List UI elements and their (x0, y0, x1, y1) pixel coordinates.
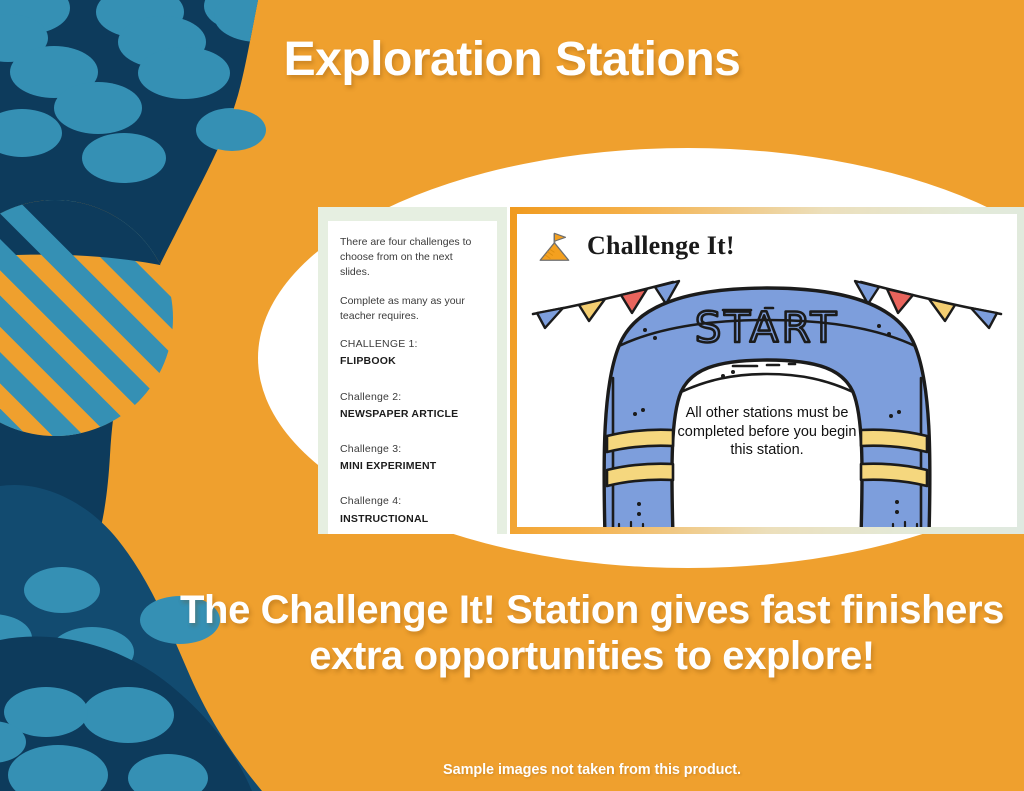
challenge-it-title: Challenge It! (587, 231, 735, 261)
headline-text: The Challenge It! Station gives fast fin… (152, 588, 1024, 679)
disclaimer-text: Sample images not taken from this produc… (152, 762, 1024, 778)
sample-slides: There are four challenges to choose from… (318, 207, 1024, 534)
challenge-2-name: NEWSPAPER ARTICLE (340, 407, 485, 422)
challenge-1-name: FLIPBOOK (340, 354, 485, 369)
arch-message-text: All other stations must be completed bef… (675, 404, 859, 460)
instructions-paragraph-1: There are four challenges to choose from… (340, 235, 485, 281)
challenge-4-label: Challenge 4: (340, 494, 485, 509)
mountain-flag-icon (537, 227, 575, 265)
challenge-2-label: Challenge 2: (340, 390, 485, 405)
slide-thumbnail-instructions: There are four challenges to choose from… (318, 207, 507, 534)
instructions-paragraph-2: Complete as many as your teacher require… (340, 294, 485, 324)
challenge-1-label: CHALLENGE 1: (340, 337, 485, 352)
slide-canvas: There are four challenges to choose from… (0, 0, 1024, 791)
arch-start-label: START (695, 303, 840, 352)
start-arch-illustration: START All other stations must be complet… (517, 266, 1017, 527)
page-title: Exploration Stations (0, 32, 1024, 87)
teal-dot (198, 109, 266, 151)
challenge-it-header: Challenge It! (517, 214, 1017, 265)
challenge-3-name: MINI EXPERIMENT (340, 459, 485, 474)
challenge-4-name: INSTRUCTIONAL (340, 512, 485, 527)
slide-thumbnail-challenge-it: Challenge It! (510, 207, 1024, 534)
challenge-3-label: Challenge 3: (340, 442, 485, 457)
